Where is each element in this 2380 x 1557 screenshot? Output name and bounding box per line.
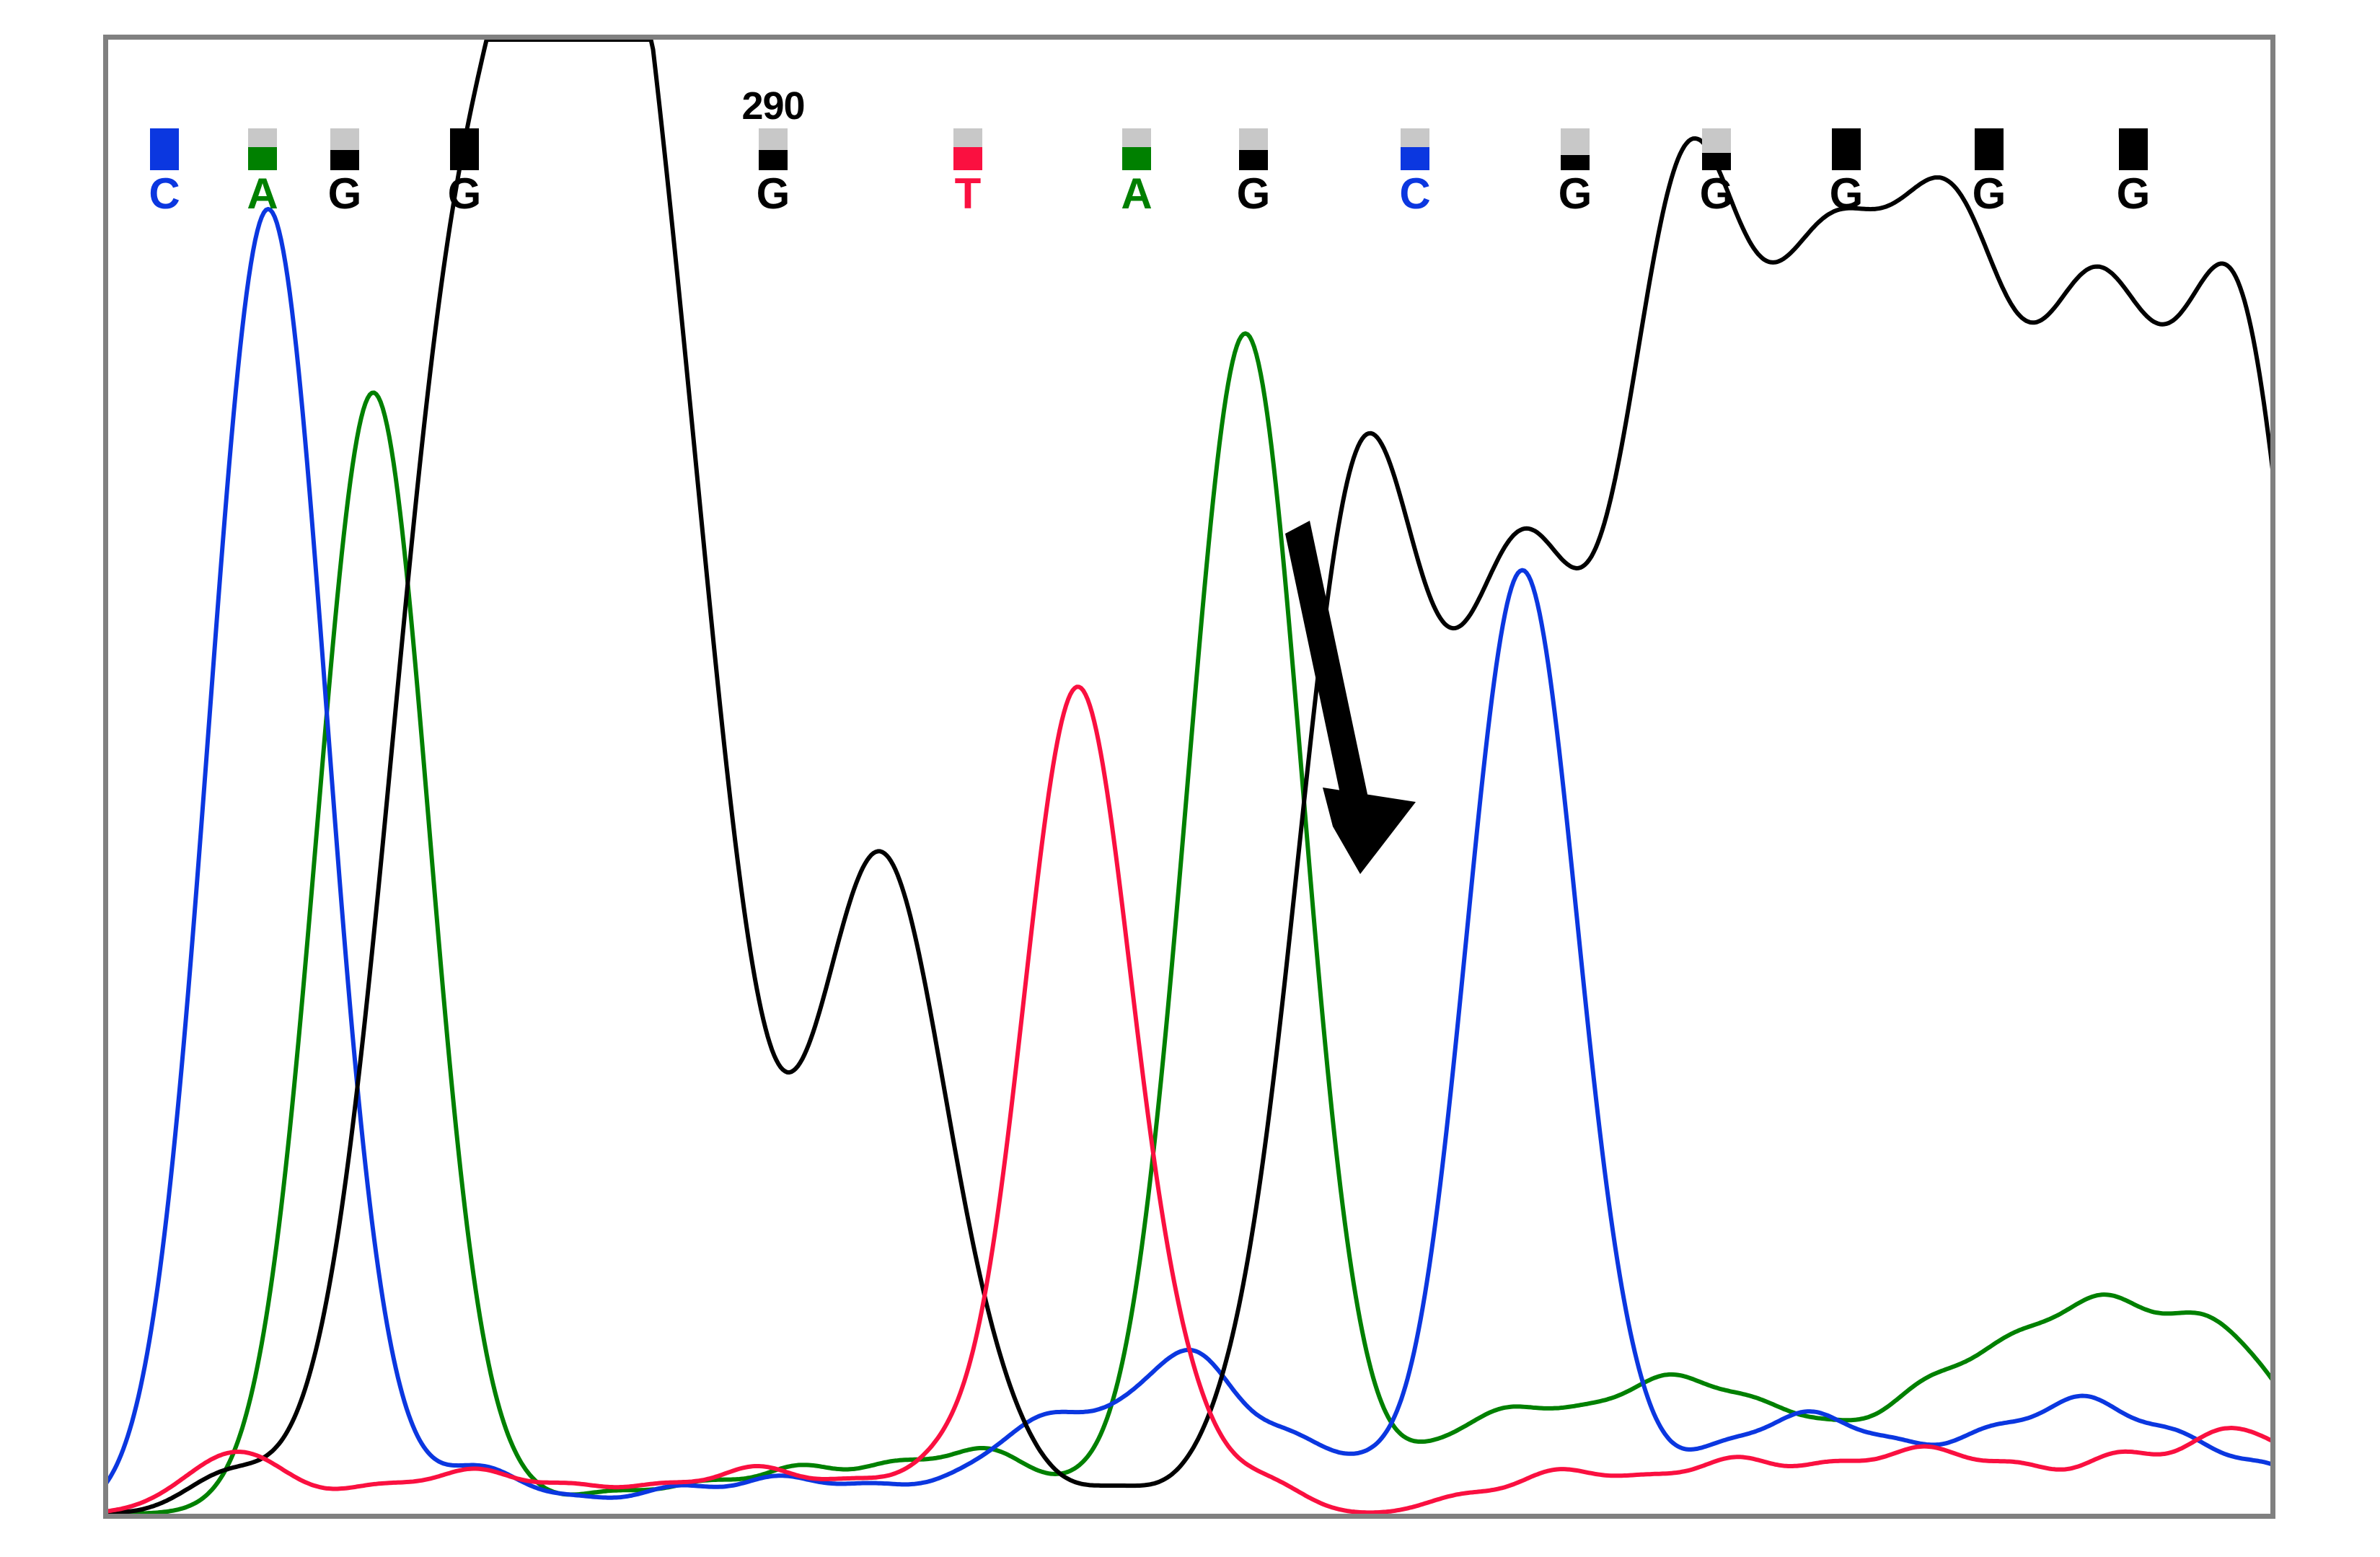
chromatogram-viewer: CAGG290GTAGCGGGGG bbox=[0, 0, 2380, 1557]
trace-channel-A bbox=[108, 333, 2270, 1514]
electropherogram-trace[interactable] bbox=[108, 40, 2270, 1514]
trace-channel-T bbox=[108, 687, 2270, 1512]
